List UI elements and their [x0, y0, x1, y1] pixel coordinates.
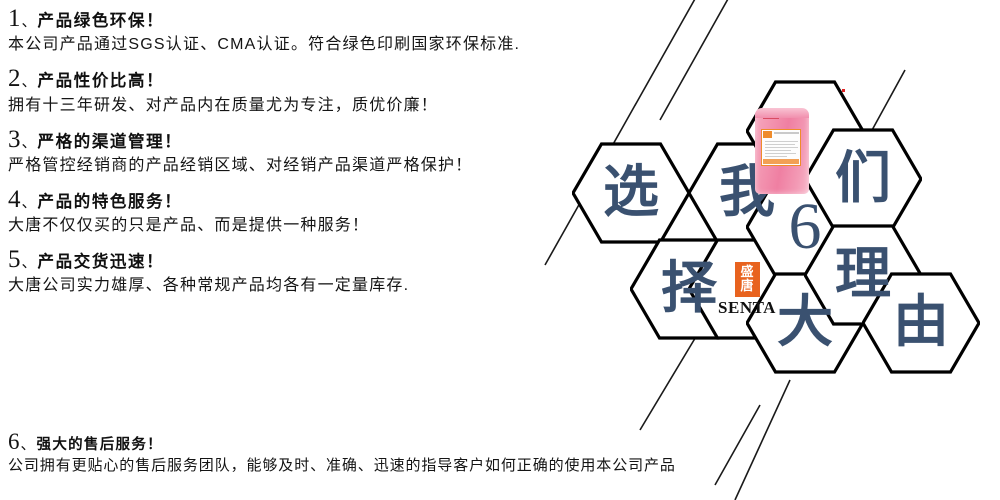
reason-item: 5 、 产品交货迅速！ 大唐公司实力雄厚、各种常规产品均各有一定量库存. [8, 247, 648, 298]
hex-label: 理 [835, 247, 891, 303]
reason-number: 2 [8, 66, 21, 92]
hex-label: 大 [777, 295, 833, 351]
reason-body: 大唐公司实力雄厚、各种常规产品均各有一定量库存. [8, 274, 648, 298]
reason-heading: 4 、 产品的特色服务！ [8, 187, 648, 213]
label-orange-footer [763, 159, 799, 164]
reason-item: 6 、 强大的售后服务！ 公司拥有更贴心的售后服务团队，能够及时、准确、迅速的指… [0, 430, 990, 478]
product-label [761, 129, 801, 166]
reason-number: 3 [8, 127, 21, 153]
reason-title: 产品交货迅速！ [38, 254, 165, 271]
reason-title: 严格的渠道管理！ [38, 134, 183, 151]
label-text-line [765, 144, 795, 145]
hex-cell-men: 们 [804, 128, 922, 230]
reason-separator: 、 [22, 14, 37, 30]
reason-separator: 、 [22, 255, 37, 271]
reasons-list: 1 、 产品绿色环保！ 本公司产品通过SGS认证、CMA认证。符合绿色印刷国家环… [8, 6, 648, 307]
reason-heading: 3 、 严格的渠道管理！ [8, 127, 648, 153]
reason-title: 产品的特色服务！ [38, 194, 183, 211]
label-text-line [765, 147, 798, 148]
hex-label: 们 [835, 151, 891, 207]
reason-body: 公司拥有更贴心的售后服务团队，能够及时、准确、迅速的指导客户如何正确的使用本公司… [0, 455, 990, 478]
reason-body: 严格管控经销商的产品经销区域、对经销产品渠道严格保护！ [8, 154, 648, 178]
label-text-line [765, 153, 796, 154]
label-title-bar [774, 132, 799, 134]
reason-title: 产品绿色环保！ [38, 13, 165, 30]
reason-item: 2 、 产品性价比高！ 拥有十三年研发、对产品内在质量尤为专注，质优价廉！ [8, 66, 648, 117]
reason-separator: 、 [21, 437, 36, 453]
reason-item: 1 、 产品绿色环保！ 本公司产品通过SGS认证、CMA认证。符合绿色印刷国家环… [8, 6, 648, 57]
reason-heading: 6 、 强大的售后服务！ [0, 430, 990, 454]
reason-heading: 2 、 产品性价比高！ [8, 66, 648, 92]
reason-number: 1 [8, 6, 21, 32]
reason-separator: 、 [22, 195, 37, 211]
reason-body: 拥有十三年研发、对产品内在质量尤为专注，质优价廉！ [8, 94, 648, 118]
brand-char-bottom: 唐 [737, 280, 758, 294]
reason-number: 5 [8, 247, 21, 273]
brand-char-top: 盛 [737, 266, 758, 280]
hex-label: 由 [893, 295, 949, 351]
reason-separator: 、 [22, 74, 37, 90]
reason-body: 大唐不仅仅买的只是产品、而是提供一种服务！ [8, 214, 648, 238]
product-photo [751, 102, 813, 197]
reason-number: 4 [8, 187, 21, 213]
reason-heading: 5 、 产品交货迅速！ [8, 247, 648, 273]
brand-seal-icon: 盛 唐 [735, 262, 760, 297]
reason-separator: 、 [22, 135, 37, 151]
brand-name: SENTA [718, 299, 776, 316]
label-text-line [765, 141, 798, 142]
reason-heading: 1 、 产品绿色环保！ [8, 6, 648, 32]
label-text-line [765, 150, 791, 151]
red-speck-mark [842, 89, 845, 92]
reason-item: 3 、 严格的渠道管理！ 严格管控经销商的产品经销区域、对经销产品渠道严格保护！ [8, 127, 648, 178]
reason-title: 产品性价比高！ [38, 73, 165, 90]
hex-label: 6 [789, 194, 822, 260]
promo-poster: 1 、 产品绿色环保！ 本公司产品通过SGS认证、CMA认证。符合绿色印刷国家环… [0, 0, 1000, 500]
reason-number: 6 [8, 430, 20, 454]
label-orange-block [763, 131, 772, 138]
brand-logo: 盛 唐 SENTA [718, 262, 776, 316]
reason-body: 本公司产品通过SGS认证、CMA认证。符合绿色印刷国家环保标准. [8, 33, 648, 57]
jerrycan-shoulder [755, 108, 809, 118]
reason-title: 强大的售后服务！ [37, 438, 163, 453]
label-text-line [765, 156, 787, 157]
reason-item: 4 、 产品的特色服务！ 大唐不仅仅买的只是产品、而是提供一种服务！ [8, 187, 648, 238]
hex-label: 择 [661, 261, 717, 317]
